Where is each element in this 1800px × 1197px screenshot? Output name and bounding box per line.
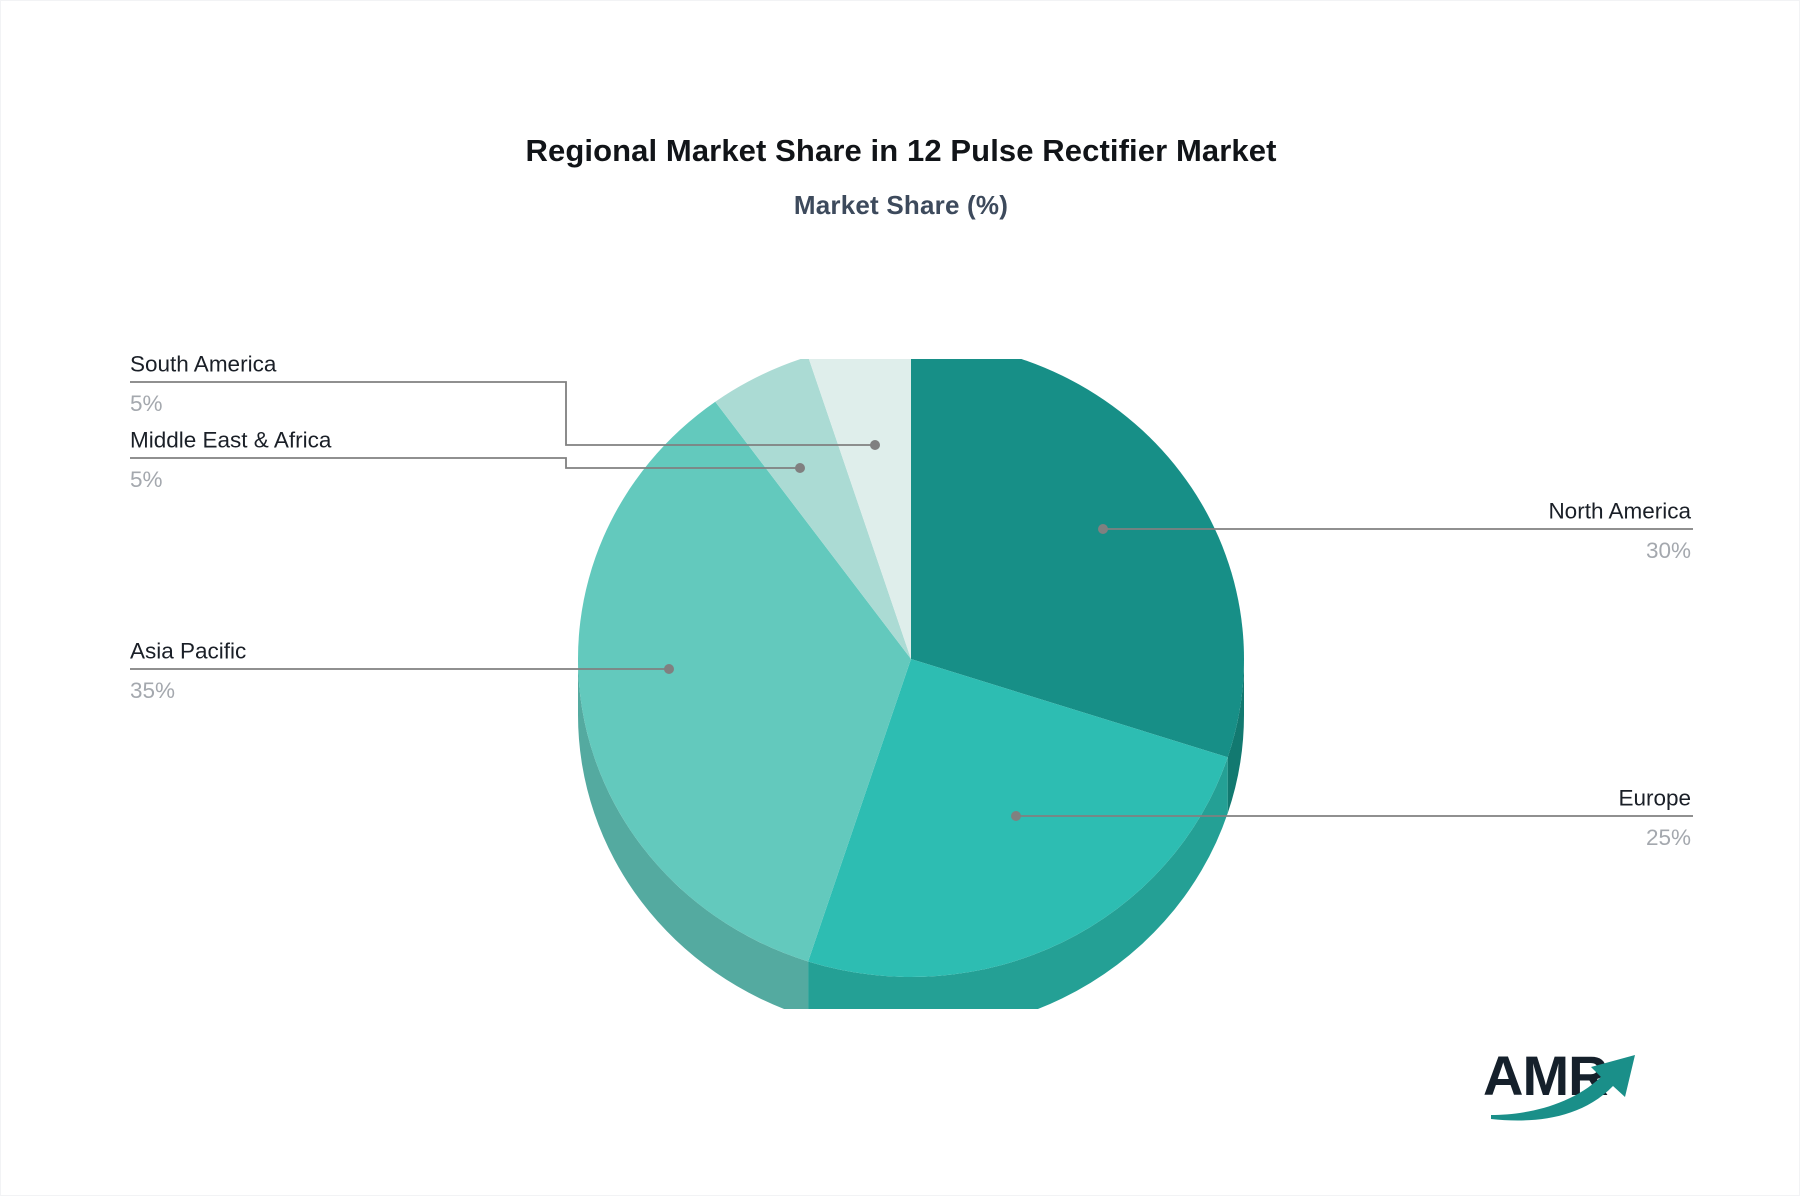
callout-label-north-america: North America [1548,501,1691,531]
pie-svg [561,359,1261,1009]
callout-value-middle-east-africa: 5% [130,461,163,492]
callout-asia-pacific-value-wrap: 35% [130,672,175,703]
callout-label-europe: Europe [1618,788,1691,818]
callout-asia-pacific: Asia Pacific [130,641,246,671]
callout-value-north-america: 30% [1646,532,1691,563]
callout-middle-east-africa: Middle East & Africa [130,430,331,460]
arrow-up-right-swoosh-icon [1483,1041,1673,1123]
callout-south-america: South America [130,354,276,384]
chart-subtitle: Market Share (%) [1,190,1800,221]
callout-europe: Europe [1618,788,1691,818]
callout-europe-value-wrap: 25% [1646,819,1691,850]
pie-top-faces [578,359,1244,977]
chart-canvas: Regional Market Share in 12 Pulse Rectif… [0,0,1800,1196]
callout-value-asia-pacific: 35% [130,672,175,703]
callout-north-america: North America [1548,501,1691,531]
page-title: Regional Market Share in 12 Pulse Rectif… [1,133,1800,169]
callout-value-south-america: 5% [130,385,163,416]
pie-chart [561,359,1261,1009]
callout-south-america-value-wrap: 5% [130,385,163,416]
callout-value-europe: 25% [1646,819,1691,850]
callout-label-south-america: South America [130,354,276,384]
amr-logo: AMR [1483,1041,1673,1123]
callout-label-asia-pacific: Asia Pacific [130,641,246,671]
callout-middle-east-africa-value-wrap: 5% [130,461,163,492]
callout-north-america-value-wrap: 30% [1646,532,1691,563]
callout-label-middle-east-africa: Middle East & Africa [130,430,331,460]
